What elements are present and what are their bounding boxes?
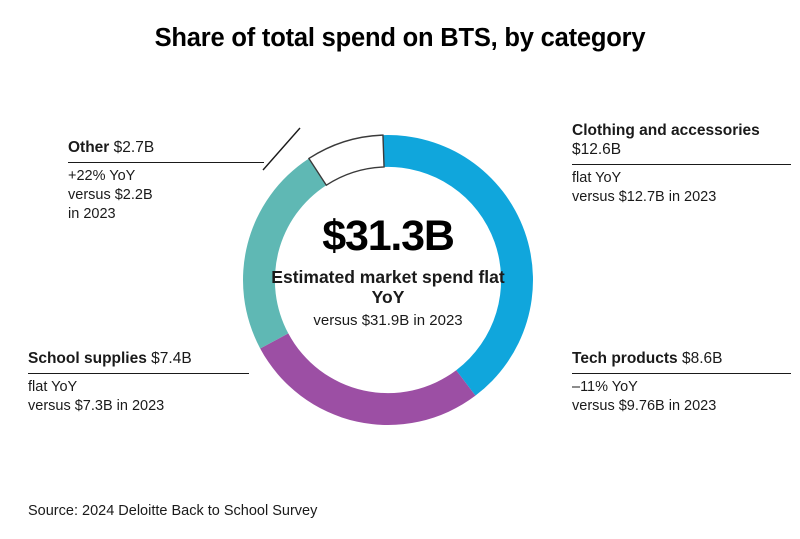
callout-other: Other $2.7B +22% YoY versus $2.2B in 202… <box>68 139 264 225</box>
callout-tech-products: Tech products $8.6B –11% YoY versus $9.7… <box>572 350 791 416</box>
callout-clothing-rule <box>572 164 791 165</box>
callout-other-headline: Other $2.7B <box>68 139 264 158</box>
donut-svg <box>243 135 533 425</box>
callout-other-detail: +22% YoY versus $2.2B in 2023 <box>68 167 264 225</box>
source-note: Source: 2024 Deloitte Back to School Sur… <box>28 503 317 519</box>
callout-clothing-detail: flat YoY versus $12.7B in 2023 <box>572 169 791 208</box>
page-title: Share of total spend on BTS, by category <box>0 24 800 53</box>
callout-school-supplies-rule <box>28 373 249 374</box>
callout-clothing: Clothing and accessories $12.6B flat YoY… <box>572 122 791 207</box>
callout-other-value: $2.7B <box>114 139 155 156</box>
callout-school-supplies-headline: School supplies $7.4B <box>28 350 249 369</box>
callout-tech-products-value: $8.6B <box>682 350 723 367</box>
donut-slice <box>383 135 533 396</box>
callout-school-supplies-detail: flat YoY versus $7.3B in 2023 <box>28 378 249 417</box>
callout-tech-products-detail: –11% YoY versus $9.76B in 2023 <box>572 378 791 417</box>
donut-slice <box>260 333 475 425</box>
callout-clothing-headline: Clothing and accessories $12.6B <box>572 122 791 160</box>
callout-tech-products-rule <box>572 373 791 374</box>
callout-clothing-value: $12.6B <box>572 141 621 158</box>
infographic-page: Share of total spend on BTS, by category… <box>0 0 800 539</box>
callout-tech-products-headline: Tech products $8.6B <box>572 350 791 369</box>
callout-other-rule <box>68 162 264 163</box>
callout-clothing-category: Clothing and accessories <box>572 122 760 139</box>
callout-school-supplies-category: School supplies <box>28 350 147 367</box>
callout-other-category: Other <box>68 139 109 156</box>
donut-chart <box>243 135 533 425</box>
callout-school-supplies: School supplies $7.4B flat YoY versus $7… <box>28 350 249 416</box>
callout-school-supplies-value: $7.4B <box>151 350 192 367</box>
callout-tech-products-category: Tech products <box>572 350 678 367</box>
